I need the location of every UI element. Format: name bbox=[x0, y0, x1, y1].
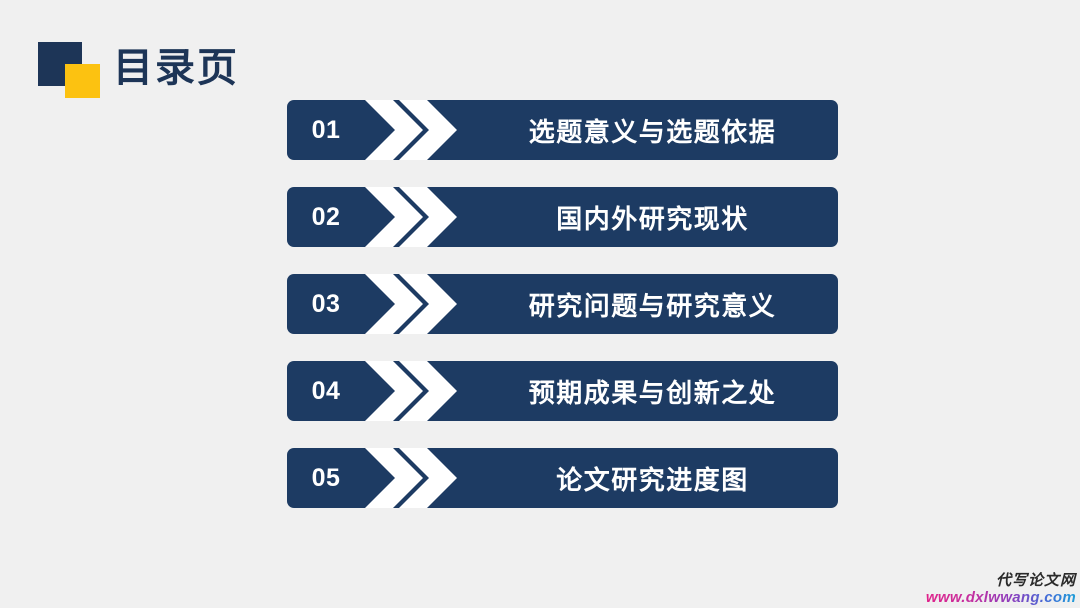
toc-item-04[interactable]: 04 预期成果与创新之处 bbox=[287, 361, 838, 421]
toc-index-03: 03 bbox=[287, 274, 365, 334]
watermark-title: 代写论文网 bbox=[926, 573, 1076, 590]
toc-index-01: 01 bbox=[287, 100, 365, 160]
gold-square-icon bbox=[65, 64, 100, 98]
toc-label-04: 预期成果与创新之处 bbox=[467, 361, 838, 421]
watermark: 代写论文网 www.dxlwwang.com bbox=[926, 573, 1076, 606]
toc-item-02[interactable]: 02 国内外研究现状 bbox=[287, 187, 838, 247]
toc-index-04: 04 bbox=[287, 361, 365, 421]
double-chevron-right-icon bbox=[365, 187, 465, 247]
double-chevron-right-icon bbox=[365, 100, 465, 160]
toc-label-03: 研究问题与研究意义 bbox=[467, 274, 838, 334]
watermark-url: www.dxlwwang.com bbox=[926, 590, 1076, 607]
page-title: 目录页 bbox=[113, 42, 239, 94]
toc-label-05: 论文研究进度图 bbox=[467, 448, 838, 508]
toc-item-05[interactable]: 05 论文研究进度图 bbox=[287, 448, 838, 508]
double-chevron-right-icon bbox=[365, 448, 465, 508]
toc-item-03[interactable]: 03 研究问题与研究意义 bbox=[287, 274, 838, 334]
double-chevron-right-icon bbox=[365, 361, 465, 421]
double-chevron-right-icon bbox=[365, 274, 465, 334]
logo-mark bbox=[38, 42, 100, 98]
toc-index-05: 05 bbox=[287, 448, 365, 508]
toc-label-02: 国内外研究现状 bbox=[467, 187, 838, 247]
table-of-contents-list: 01 选题意义与选题依据 02 国内外研究现状 03 bbox=[287, 100, 838, 535]
toc-label-01: 选题意义与选题依据 bbox=[467, 100, 838, 160]
toc-item-01[interactable]: 01 选题意义与选题依据 bbox=[287, 100, 838, 160]
slide-canvas: 目录页 01 选题意义与选题依据 02 国内外研究现状 bbox=[0, 0, 1080, 608]
toc-index-02: 02 bbox=[287, 187, 365, 247]
